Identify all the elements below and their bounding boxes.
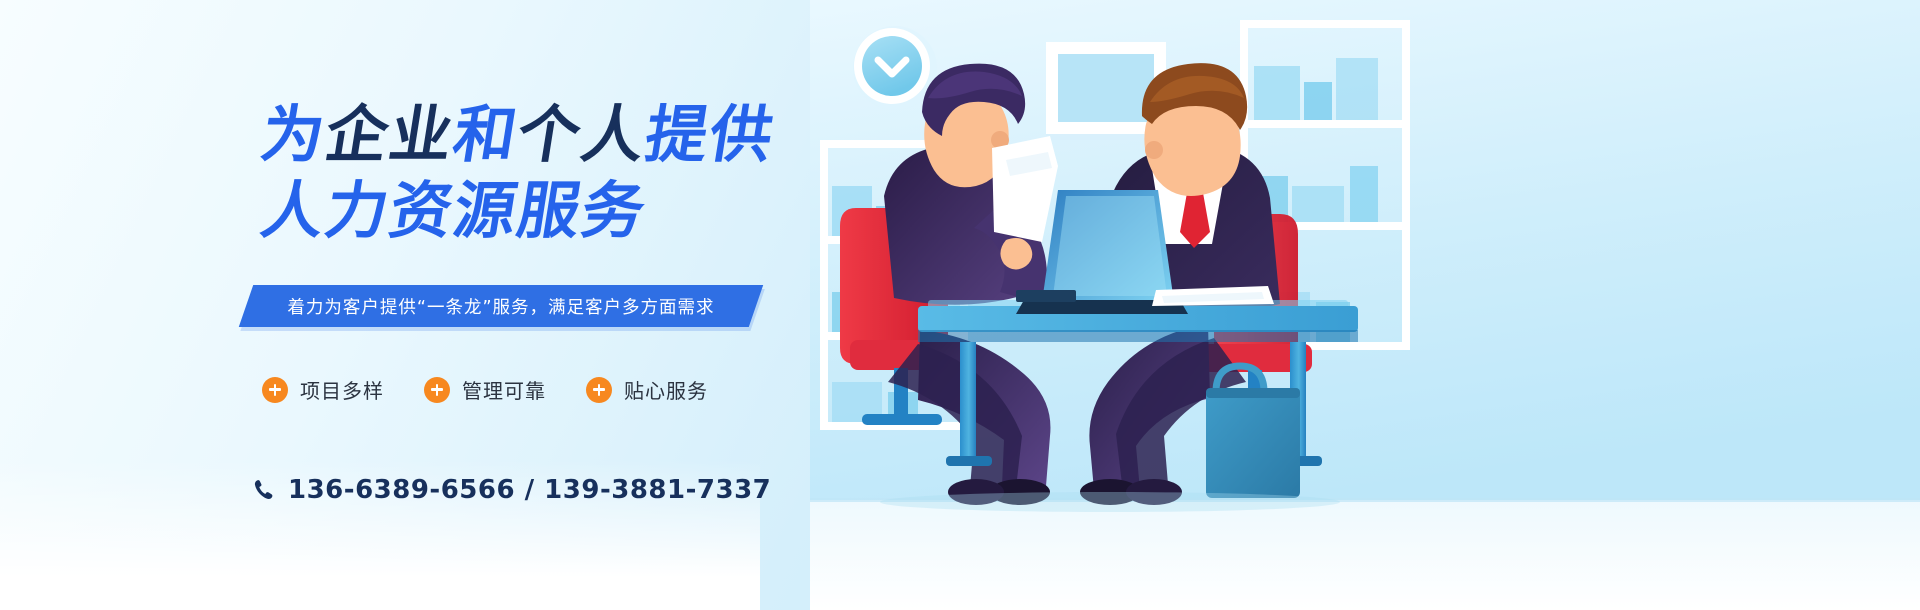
headline-char: 资	[384, 174, 460, 248]
contact-phone[interactable]: 136-6389-6566 / 139-3881-7337	[254, 475, 771, 505]
feature-item-1[interactable]: 项目多样	[262, 375, 384, 404]
headline-char: 供	[704, 98, 780, 172]
headline-char: 务	[576, 174, 652, 248]
phone-icon	[254, 479, 274, 501]
subtitle-bar: 着力为客户提供“一条龙”服务，满足客户多方面需求	[239, 285, 763, 327]
plus-icon	[586, 377, 612, 403]
plus-icon	[262, 377, 288, 403]
headline-char: 为	[256, 98, 332, 172]
feature-label: 管理可靠	[462, 375, 546, 404]
headline-char: 和	[448, 98, 524, 172]
headline-char: 服	[512, 174, 588, 248]
plus-icon	[424, 377, 450, 403]
headline-char: 力	[320, 174, 396, 248]
headline-char: 人	[256, 174, 332, 248]
feature-label: 贴心服务	[624, 375, 708, 404]
headline-char: 个	[512, 98, 588, 172]
headline-line-2: 人力资源服务	[256, 174, 780, 248]
banner-text-content: 为企业和个人提供 人力资源服务 着力为客户提供“一条龙”服务，满足客户多方面需求…	[0, 0, 860, 610]
phone-numbers: 136-6389-6566 / 139-3881-7337	[288, 475, 771, 505]
floor	[810, 500, 1920, 610]
page-title: 为企业和个人提供 人力资源服务	[262, 98, 774, 248]
headline-char: 企	[320, 98, 396, 172]
subtitle-text: 着力为客户提供“一条龙”服务，满足客户多方面需求	[246, 285, 756, 327]
hero-banner: 为企业和个人提供 人力资源服务 着力为客户提供“一条龙”服务，满足客户多方面需求…	[0, 0, 1920, 610]
business-interview-illustration	[810, 0, 1920, 610]
feature-label: 项目多样	[300, 375, 384, 404]
headline-char: 人	[576, 98, 652, 172]
headline-char: 提	[640, 98, 716, 172]
feature-item-3[interactable]: 贴心服务	[586, 375, 708, 404]
headline-char: 业	[384, 98, 460, 172]
headline-line-1: 为企业和个人提供	[256, 98, 780, 172]
feature-item-2[interactable]: 管理可靠	[424, 375, 546, 404]
feature-list: 项目多样 管理可靠 贴心服务	[262, 375, 708, 404]
headline-char: 源	[448, 174, 524, 248]
